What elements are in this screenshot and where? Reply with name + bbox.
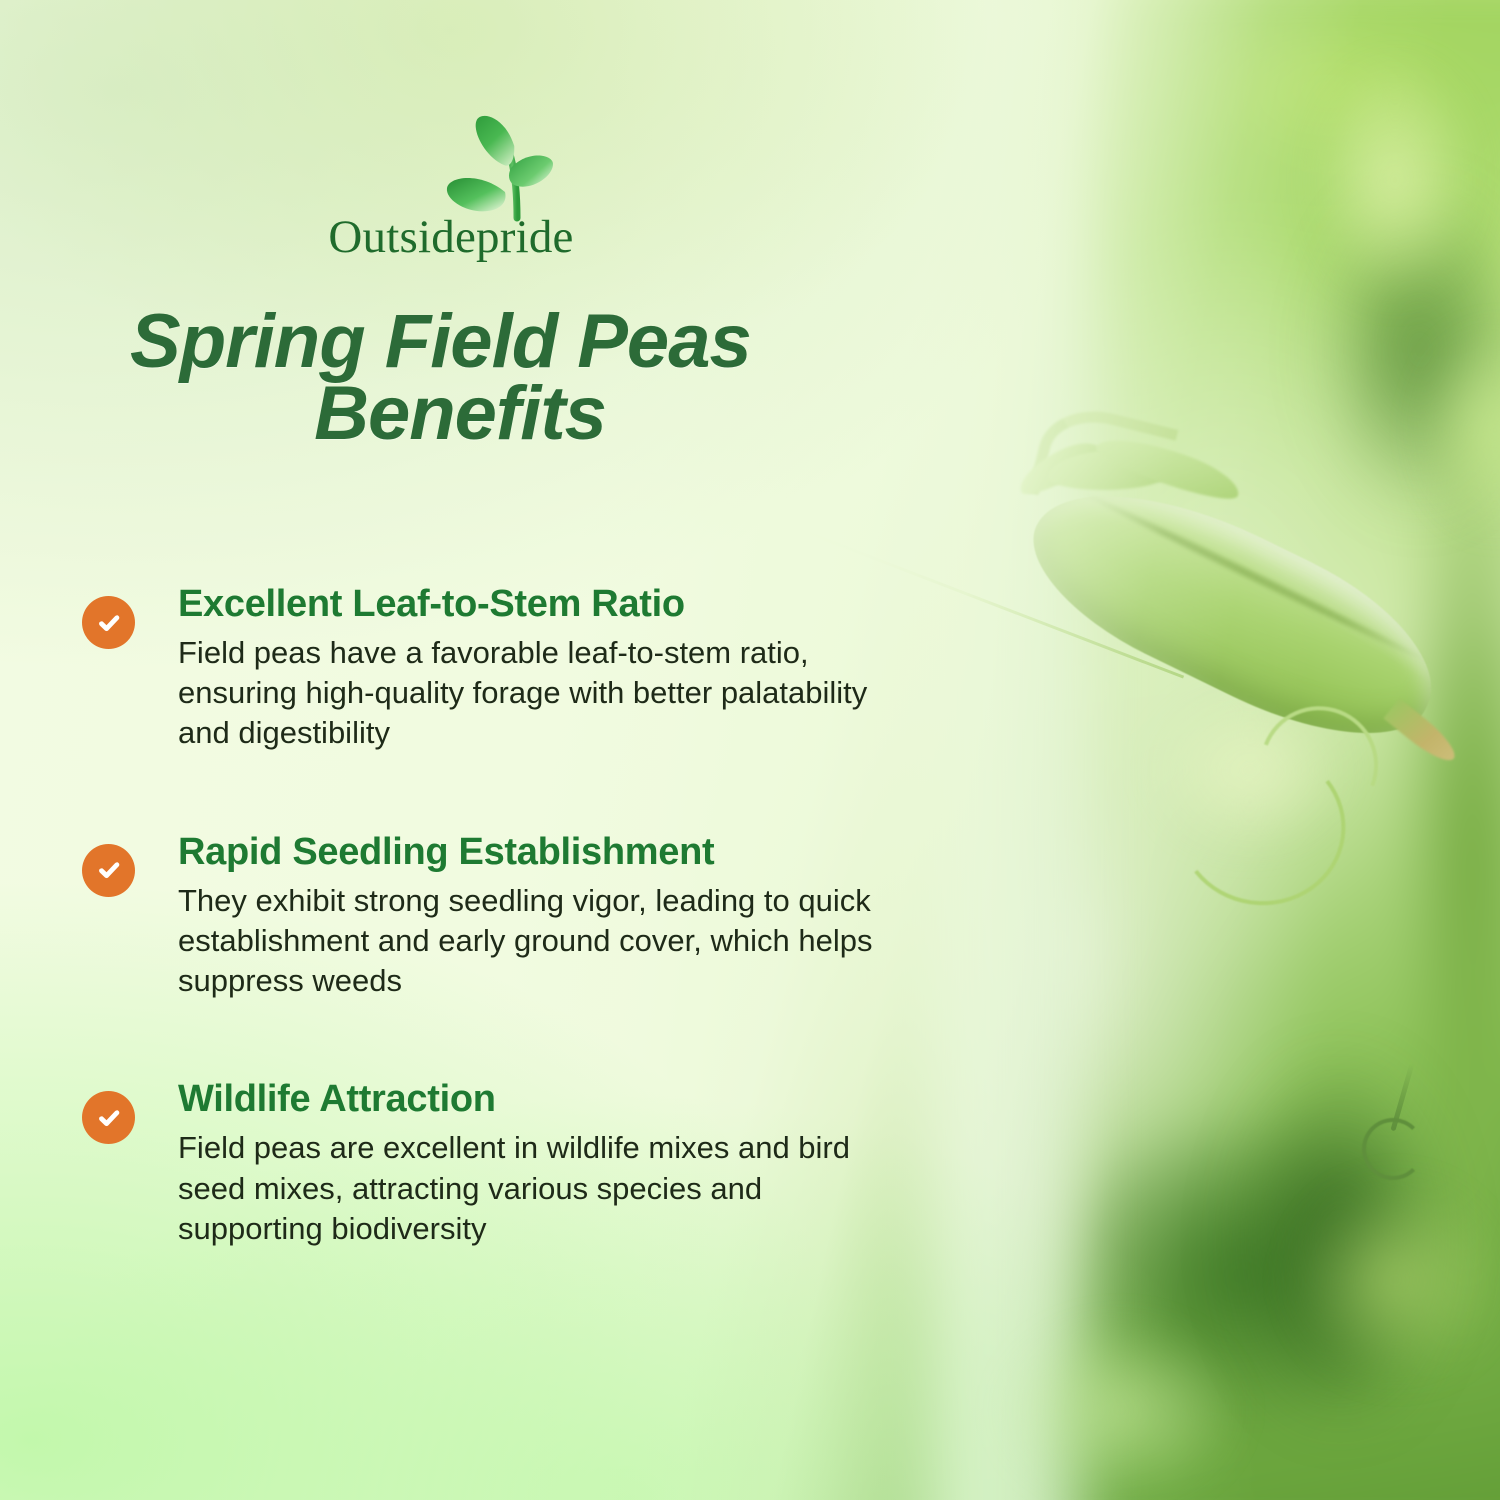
- benefit-item: Excellent Leaf-to-Stem Ratio Field peas …: [82, 582, 932, 754]
- benefit-title: Rapid Seedling Establishment: [178, 830, 932, 875]
- benefit-description: Field peas have a favorable leaf-to-stem…: [178, 633, 908, 754]
- page-title-line2: Benefits: [130, 378, 790, 450]
- benefits-list: Excellent Leaf-to-Stem Ratio Field peas …: [82, 582, 932, 1249]
- benefit-description: Field peas are excellent in wildlife mix…: [178, 1128, 908, 1249]
- check-circle-icon: [82, 1091, 135, 1144]
- brand-logo: Outsidepride: [286, 106, 616, 276]
- benefit-description: They exhibit strong seedling vigor, lead…: [178, 881, 908, 1002]
- benefit-item: Wildlife Attraction Field peas are excel…: [82, 1077, 932, 1249]
- check-circle-icon: [82, 596, 135, 649]
- sprout-plant-icon: [441, 106, 571, 226]
- check-circle-icon: [82, 844, 135, 897]
- benefit-title: Wildlife Attraction: [178, 1077, 932, 1122]
- benefit-title: Excellent Leaf-to-Stem Ratio: [178, 582, 932, 627]
- page-title-line1: Spring Field Peas: [130, 306, 930, 378]
- page-title: Spring Field Peas Benefits: [130, 306, 930, 450]
- infographic-poster: Outsidepride Spring Field Peas Benefits …: [0, 0, 1500, 1500]
- benefit-item: Rapid Seedling Establishment They exhibi…: [82, 830, 932, 1002]
- content-area: Outsidepride Spring Field Peas Benefits …: [0, 0, 1500, 1500]
- brand-wordmark: Outsidepride: [286, 214, 616, 261]
